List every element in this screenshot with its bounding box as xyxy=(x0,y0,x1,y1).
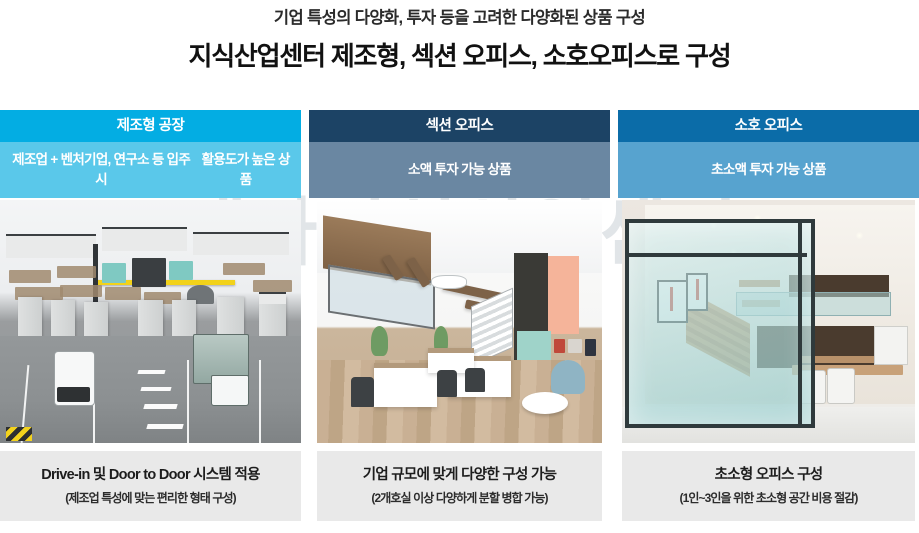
frosted-glass-panel xyxy=(625,219,815,428)
infographic-canvas: 기업 특성의 다양화, 투자 등을 고려한 다양화된 상품 구성 지식산업센터 … xyxy=(0,0,919,533)
card-header-soho-office: 소호 오피스 xyxy=(618,110,919,142)
soho-office-illustration xyxy=(622,200,915,443)
page-subtitle: 기업 특성의 다양화, 투자 등을 고려한 다양화된 상품 구성 xyxy=(0,9,919,29)
caption-sub-soho-office: (1인~3인을 위한 초소형 공간 비용 절감) xyxy=(680,491,858,506)
card-subheader-line2: 활용도가 높은 상품 xyxy=(196,150,295,189)
heading-block: 기업 특성의 다양화, 투자 등을 고려한 다양화된 상품 구성 지식산업센터 … xyxy=(0,0,919,72)
card-header-manufacturing: 제조형 공장 xyxy=(0,110,301,142)
caption-main-soho-office: 초소형 오피스 구성 xyxy=(715,466,823,484)
card-caption-manufacturing: Drive-in 및 Door to Door 시스템 적용 (제조업 특성에 … xyxy=(0,451,301,521)
card-subheader-line1: 제조업 + 벤처기업, 연구소 등 입주 시 xyxy=(6,150,196,189)
page-title: 지식산업센터 제조형, 섹션 오피스, 소호오피스로 구성 xyxy=(0,41,919,72)
card-caption-section-office: 기업 규모에 맞게 다양한 구성 가능 (2개호실 이상 다양하게 분할 병합 … xyxy=(317,451,602,521)
product-columns: 제조형 공장 제조업 + 벤처기업, 연구소 등 입주 시 활용도가 높은 상품 xyxy=(0,110,919,533)
card-photo-soho-office xyxy=(622,200,915,443)
card-photo-manufacturing xyxy=(0,200,301,443)
card-header-section-office: 섹션 오피스 xyxy=(309,110,610,142)
card-subheader-soho-office: 초소액 투자 가능 상품 xyxy=(618,142,919,198)
loft-office-illustration xyxy=(317,200,602,443)
caption-main-section-office: 기업 규모에 맞게 다양한 구성 가능 xyxy=(363,466,557,484)
card-subheader-section-office: 소액 투자 가능 상품 xyxy=(309,142,610,198)
card-photo-section-office xyxy=(317,200,602,443)
product-card-manufacturing[interactable]: 제조형 공장 제조업 + 벤처기업, 연구소 등 입주 시 활용도가 높은 상품 xyxy=(0,110,301,533)
card-subheader-line1: 초소액 투자 가능 상품 xyxy=(711,160,826,180)
factory-illustration xyxy=(0,200,301,443)
card-caption-soho-office: 초소형 오피스 구성 (1인~3인을 위한 초소형 공간 비용 절감) xyxy=(622,451,915,521)
caption-main-manufacturing: Drive-in 및 Door to Door 시스템 적용 xyxy=(41,466,260,484)
card-subheader-line1: 소액 투자 가능 상품 xyxy=(408,160,511,180)
caption-sub-manufacturing: (제조업 특성에 맞는 편리한 형태 구성) xyxy=(65,491,235,506)
product-card-section-office[interactable]: 섹션 오피스 소액 투자 가능 상품 xyxy=(309,110,610,533)
card-subheader-manufacturing: 제조업 + 벤처기업, 연구소 등 입주 시 활용도가 높은 상품 xyxy=(0,142,301,198)
product-card-soho-office[interactable]: 소호 오피스 초소액 투자 가능 상품 xyxy=(618,110,919,533)
caption-sub-section-office: (2개호실 이상 다양하게 분할 병합 가능) xyxy=(371,491,547,506)
